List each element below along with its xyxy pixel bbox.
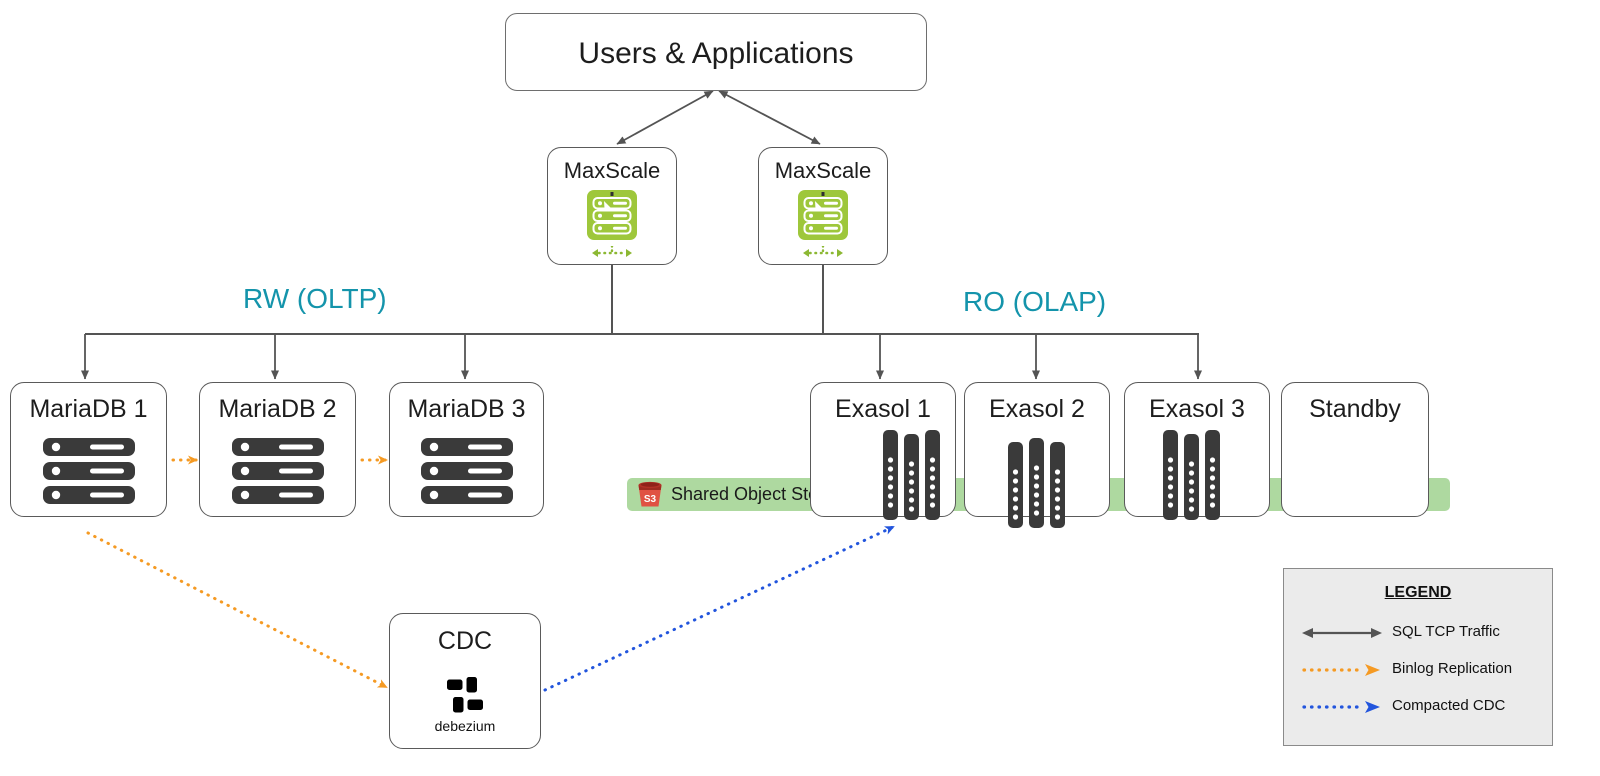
standby-label: Standby [1282,395,1428,424]
exasol-label-3: Exasol 3 [1125,395,1269,424]
mariadb-label-2: MariaDB 2 [200,395,355,424]
maxscale-node-2[interactable]: MaxScale [758,147,888,265]
server-rack-icon [587,190,637,240]
cdc-label: CDC [390,627,540,656]
server-stack-icon [232,438,324,504]
mariadb-node-2[interactable]: MariaDB 2 [199,382,356,517]
edge-binlog-mariadb-cdc [88,533,386,687]
dotted-arrow-orange-icon [1302,661,1382,679]
legend-item-compacted-cdc: Compacted CDC [1284,695,1554,721]
mariadb-node-1[interactable]: MariaDB 1 [10,382,167,517]
maxscale-label-2: MaxScale [759,158,887,184]
mariadb-label-1: MariaDB 1 [11,395,166,424]
server-stack-icon [43,438,135,504]
server-blades-icon [1008,438,1066,528]
edge-users-maxscale-2 [719,91,820,144]
server-blades-icon [1163,430,1221,520]
exasol-label-2: Exasol 2 [965,395,1109,424]
server-stack-icon [421,438,513,504]
legend-label-sql-tcp: SQL TCP Traffic [1392,623,1500,640]
server-rack-icon [798,190,848,240]
solid-double-arrow-icon [1302,624,1382,642]
legend-item-sql-tcp: SQL TCP Traffic [1284,621,1554,647]
legend-panel: LEGEND SQL TCP Traffic Binlog Replicatio… [1283,568,1553,746]
dotted-arrow-blue-icon [1302,698,1382,716]
edge-users-maxscale-1 [617,91,713,144]
legend-label-binlog: Binlog Replication [1392,660,1512,677]
legend-item-binlog: Binlog Replication [1284,658,1554,684]
exasol-label-1: Exasol 1 [811,395,955,424]
mariadb-label-3: MariaDB 3 [390,395,543,424]
bidirectional-dotted-arrow-icon [794,246,852,260]
cdc-node[interactable]: CDC debezium [389,613,541,749]
server-blades-icon [883,430,941,520]
edge-cdc-exasol [545,527,893,690]
users-applications-label: Users & Applications [506,37,926,71]
mariadb-node-3[interactable]: MariaDB 3 [389,382,544,517]
debezium-pinwheel-icon [446,676,484,714]
flow-label-ro: RO (OLAP) [963,286,1106,318]
maxscale-node-1[interactable]: MaxScale [547,147,677,265]
debezium-label: debezium [390,718,540,734]
users-applications-node[interactable]: Users & Applications [505,13,927,91]
legend-label-compacted-cdc: Compacted CDC [1392,697,1505,714]
maxscale-label-1: MaxScale [548,158,676,184]
bidirectional-dotted-arrow-icon [583,246,641,260]
legend-title: LEGEND [1284,584,1552,602]
flow-label-rw: RW (OLTP) [243,283,387,315]
standby-node[interactable]: Standby [1281,382,1429,517]
s3-bucket-icon: S3 [636,481,664,508]
diagram-canvas: Users & Applications MaxScale [0,0,1600,776]
svg-text:S3: S3 [644,494,657,505]
